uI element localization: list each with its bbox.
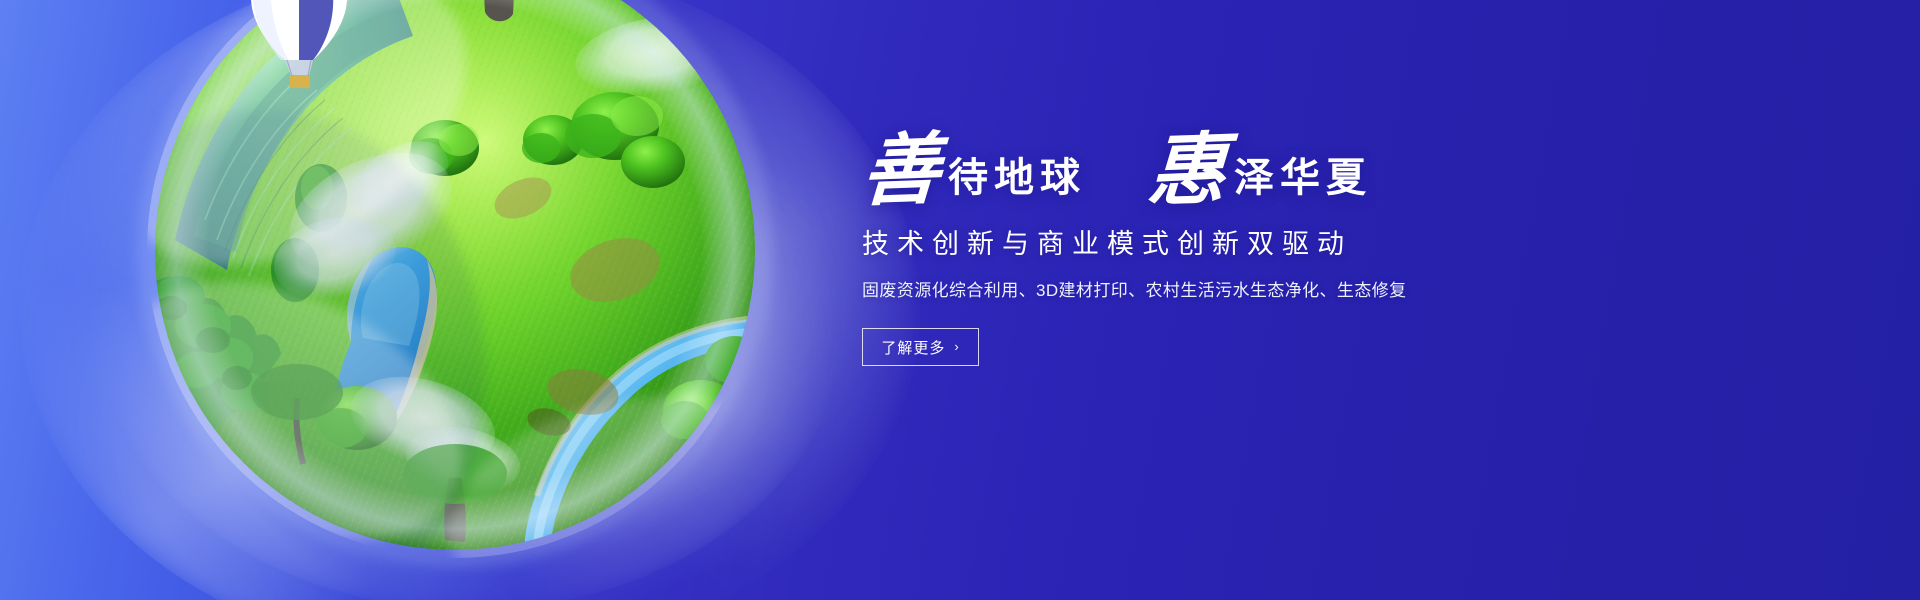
headline-small-chars-2: 泽华夏 xyxy=(1228,158,1372,198)
description: 固废资源化综合利用、3D建材打印、农村生活污水生态净化、生态修复 xyxy=(862,280,1722,302)
learn-more-label: 了解更多 xyxy=(881,337,945,358)
headline-phrase-2: 惠 泽华夏 xyxy=(1148,132,1372,210)
chevron-right-icon: › xyxy=(954,340,959,353)
hero-content: 善 待地球 惠 泽华夏 技术创新与商业模式创新双驱动 固废资源化综合利用、3D建… xyxy=(862,132,1722,366)
headline-small-chars-1: 待地球 xyxy=(942,158,1086,198)
hero-banner: 善 待地球 惠 泽华夏 技术创新与商业模式创新双驱动 固废资源化综合利用、3D建… xyxy=(0,0,1920,600)
headline: 善 待地球 惠 泽华夏 xyxy=(862,132,1722,210)
headline-big-char-2: 惠 xyxy=(1146,131,1230,212)
headline-big-char-1: 善 xyxy=(860,131,944,212)
globe-artwork xyxy=(145,0,765,560)
subtitle: 技术创新与商业模式创新双驱动 xyxy=(862,228,1722,260)
headline-phrase-1: 善 待地球 xyxy=(862,132,1086,210)
learn-more-button[interactable]: 了解更多 › xyxy=(862,328,979,366)
